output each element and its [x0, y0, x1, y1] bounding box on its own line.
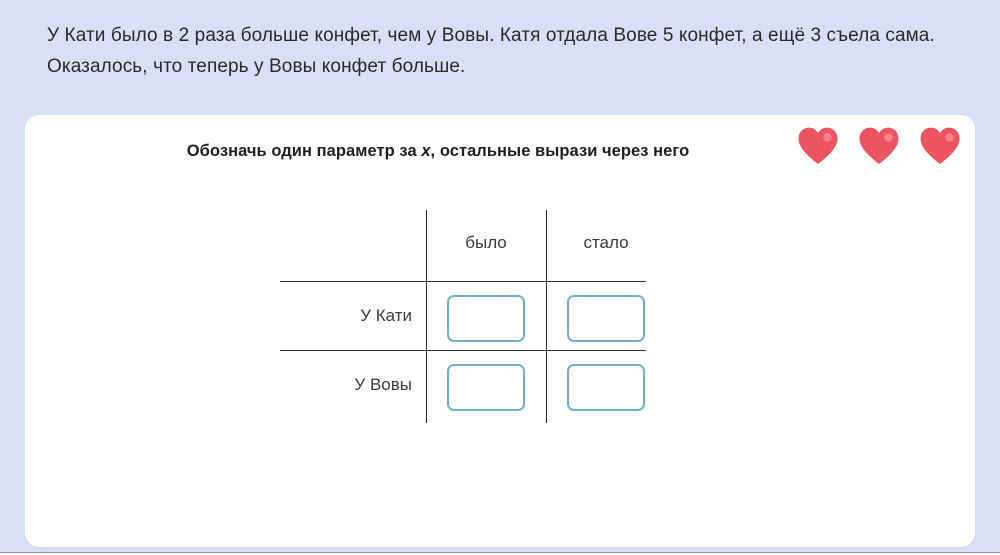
table-column-header-stalo: стало [546, 233, 666, 253]
table-grid-line-horizontal [280, 281, 646, 282]
answer-input-katya-bylo[interactable] [447, 295, 525, 342]
card-title-prefix: Обозначь один параметр за [187, 142, 422, 160]
table-column-header-bylo: было [426, 233, 546, 253]
hearts-row [797, 126, 961, 166]
heart-icon [797, 126, 839, 166]
heart-icon [858, 126, 900, 166]
table-grid-line-horizontal [280, 350, 646, 351]
answer-input-vova-bylo[interactable] [447, 364, 525, 411]
problem-statement: У Кати было в 2 раза больше конфет, чем … [47, 20, 967, 82]
heart-icon [919, 126, 961, 166]
answer-input-katya-stalo[interactable] [567, 295, 645, 342]
card-title-suffix: , остальные вырази через него [431, 142, 690, 160]
card-title-variable: x [421, 142, 430, 160]
table-row-label-katya: У Кати [280, 306, 412, 326]
viewport-bottom-rule [0, 552, 1000, 553]
task-card: Обозначь один параметр за x, остальные в… [25, 115, 975, 547]
table-row-label-vova: У Вовы [280, 375, 412, 395]
answer-table: было стало У Кати У Вовы [280, 210, 646, 423]
card-title: Обозначь один параметр за x, остальные в… [25, 142, 851, 161]
answer-input-vova-stalo[interactable] [567, 364, 645, 411]
